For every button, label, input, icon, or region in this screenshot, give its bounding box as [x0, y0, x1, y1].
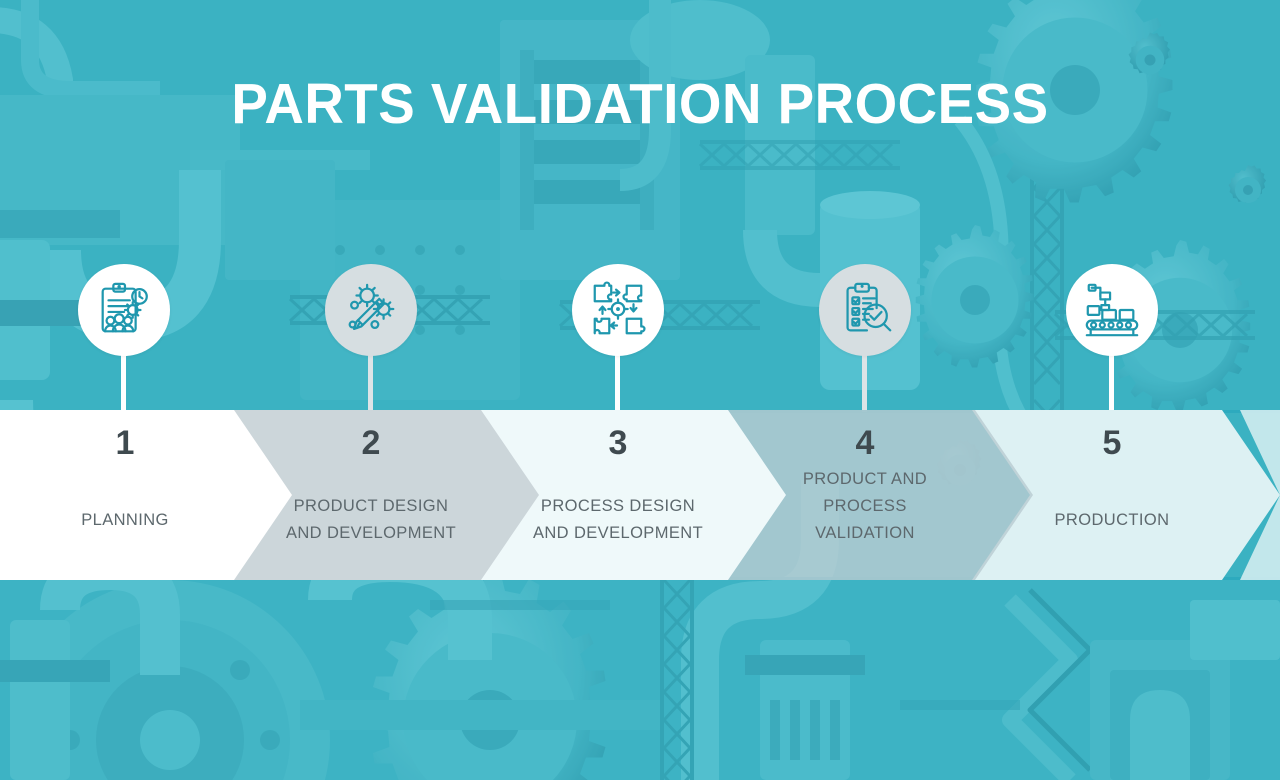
step-label: PROCESS DESIGN AND DEVELOPMENT: [513, 493, 723, 547]
step-icon-circle-5[interactable]: [1066, 264, 1158, 356]
steps-text-layer: 1 PLANNING 2 PRODUCT DESIGN AND DEVELOPM…: [0, 410, 1280, 580]
step-4[interactable]: 4 PRODUCT AND PROCESS VALIDATION: [760, 410, 970, 580]
puzzle-target-arrows-icon: [587, 279, 649, 341]
step-label: PLANNING: [20, 507, 230, 534]
step-number: 3: [513, 423, 723, 463]
page-title: PARTS VALIDATION PROCESS: [26, 72, 1255, 136]
step-number: 2: [266, 423, 476, 463]
step-icon-circle-3[interactable]: [572, 264, 664, 356]
conveyor-robot-arm-icon: [1081, 279, 1143, 341]
step-number: 5: [1007, 423, 1217, 463]
clipboard-team-gear-clock-icon: [93, 279, 155, 341]
step-2[interactable]: 2 PRODUCT DESIGN AND DEVELOPMENT: [266, 410, 476, 580]
step-icon-circle-2[interactable]: [325, 264, 417, 356]
step-number: 1: [20, 423, 230, 463]
step-label: PRODUCTION: [1007, 507, 1217, 534]
step-label: PRODUCT DESIGN AND DEVELOPMENT: [266, 493, 476, 547]
step-icon-circle-4[interactable]: [819, 264, 911, 356]
step-number: 4: [760, 423, 970, 463]
step-icon-circle-1[interactable]: [78, 264, 170, 356]
step-5[interactable]: 5 PRODUCTION: [1007, 410, 1217, 580]
checklist-magnifier-icon: [834, 279, 896, 341]
step-label: PRODUCT AND PROCESS VALIDATION: [760, 466, 970, 547]
step-1[interactable]: 1 PLANNING: [20, 410, 230, 580]
pencil-gears-icon: [340, 279, 402, 341]
step-3[interactable]: 3 PROCESS DESIGN AND DEVELOPMENT: [513, 410, 723, 580]
infographic-stage: PARTS VALIDATION PROCESS: [0, 0, 1280, 780]
